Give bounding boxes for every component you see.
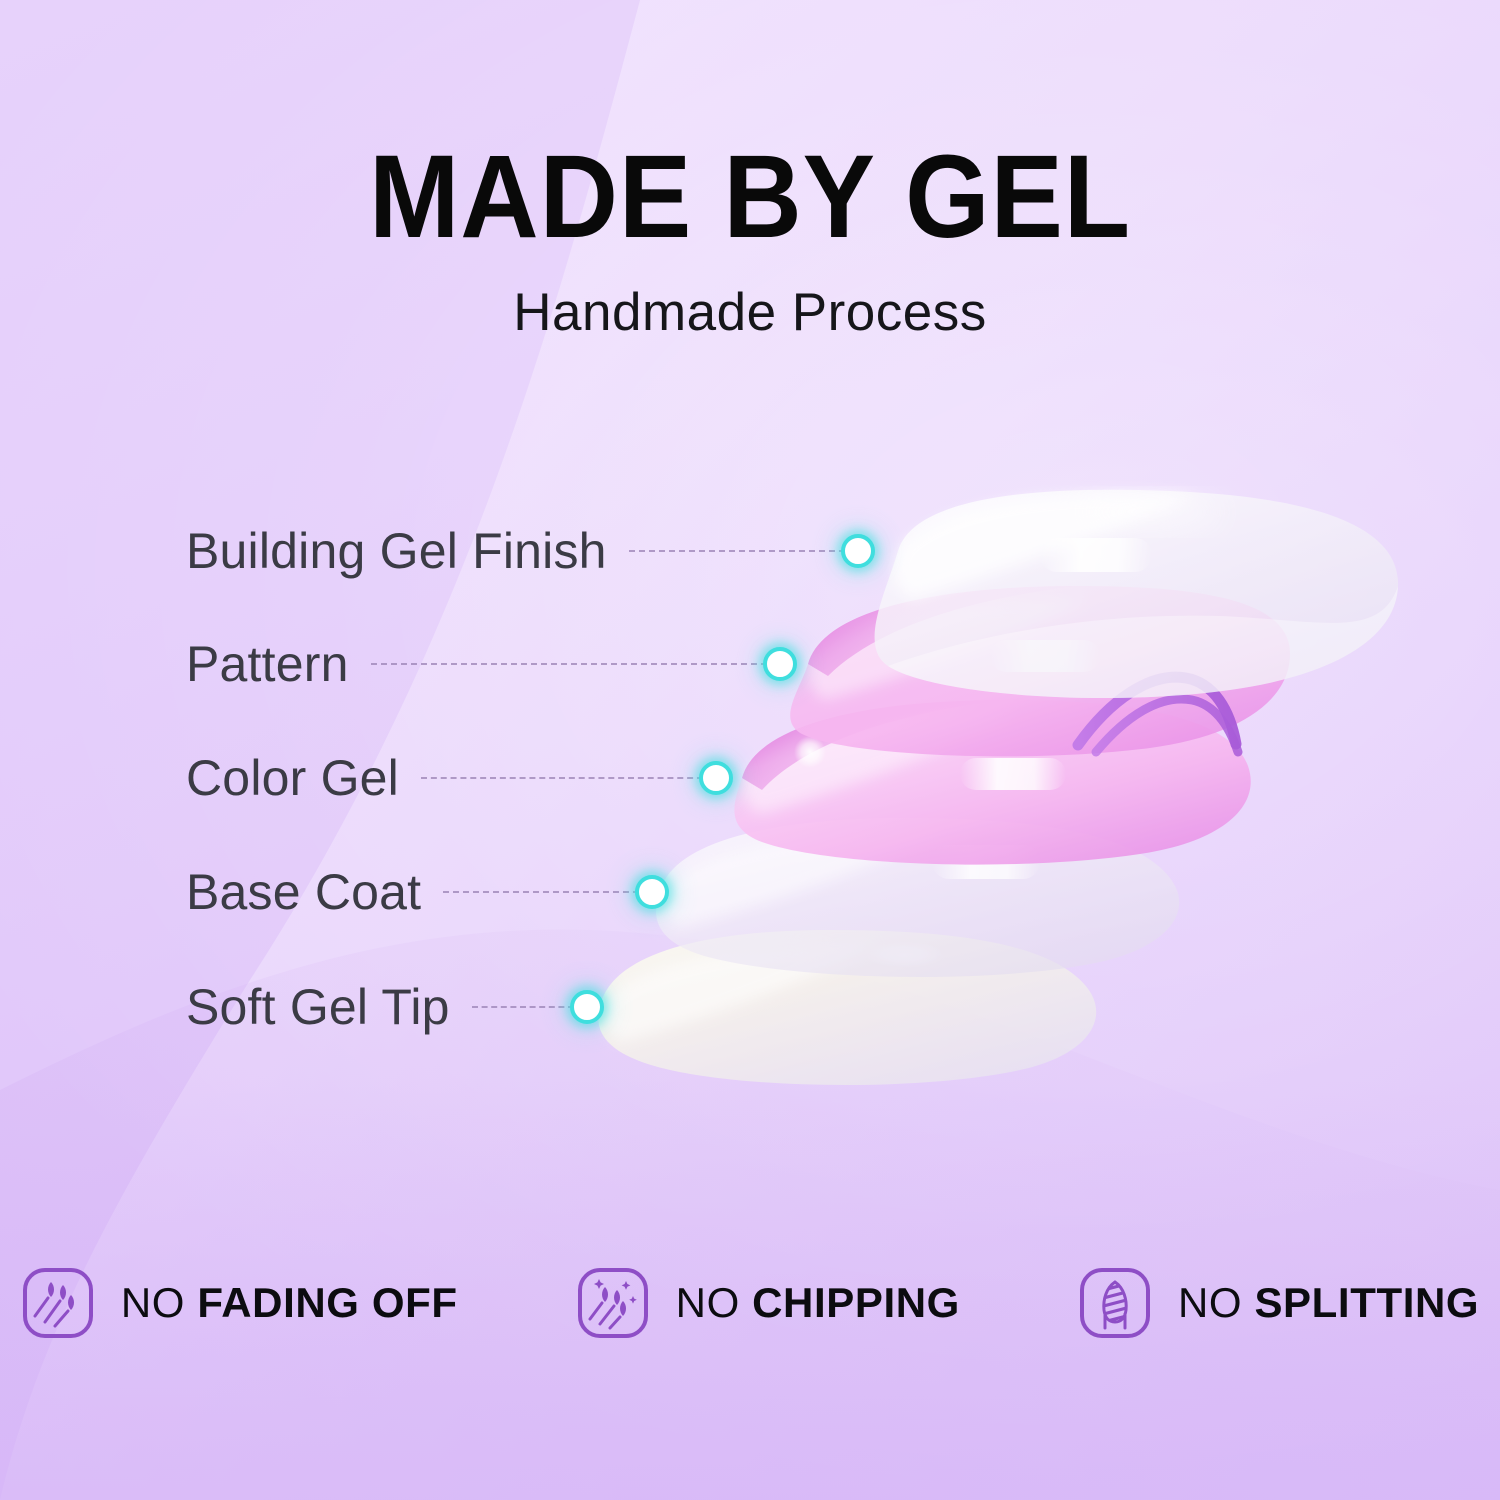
layer-label-text: Pattern [186, 635, 349, 693]
layer-label-text: Color Gel [186, 749, 399, 807]
feature-label: NO SPLITTING [1178, 1279, 1479, 1327]
feature-no-splitting[interactable]: NO SPLITTING [1078, 1266, 1479, 1340]
feature-prefix: NO [676, 1279, 752, 1326]
layer-marker-dot[interactable] [763, 647, 797, 681]
feature-no-fading-off[interactable]: NO FADING OFF [21, 1266, 458, 1340]
feature-prefix: NO [1178, 1279, 1254, 1326]
infographic-canvas: MADE BY GEL Handmade Process [0, 0, 1500, 1500]
layer-marker-dot[interactable] [699, 761, 733, 795]
leader-line [472, 1006, 574, 1008]
feature-emphasis: SPLITTING [1254, 1279, 1479, 1326]
layer-label-text: Soft Gel Tip [186, 978, 450, 1036]
layer-marker-dot[interactable] [841, 534, 875, 568]
nail-brush-strokes-icon [21, 1266, 95, 1340]
leader-line [629, 550, 845, 552]
feature-emphasis: CHIPPING [752, 1279, 960, 1326]
feature-emphasis: FADING OFF [197, 1279, 457, 1326]
feature-prefix: NO [121, 1279, 197, 1326]
layer-label-text: Building Gel Finish [186, 522, 607, 580]
layer-marker-dot[interactable] [635, 875, 669, 909]
leader-line [443, 891, 639, 893]
feature-badge-row: NO FADING OFF [0, 1266, 1500, 1340]
layer-label-text: Base Coat [186, 863, 421, 921]
layer-marker-dot[interactable] [570, 990, 604, 1024]
feature-no-chipping[interactable]: NO CHIPPING [576, 1266, 960, 1340]
nail-sparkle-strokes-icon [576, 1266, 650, 1340]
feature-label: NO FADING OFF [121, 1279, 458, 1327]
layer-label-color-gel[interactable]: Color Gel [186, 750, 733, 806]
layer-label-pattern[interactable]: Pattern [186, 636, 797, 692]
layer-label-building-gel-finish[interactable]: Building Gel Finish [186, 523, 875, 579]
layer-label-soft-gel-tip[interactable]: Soft Gel Tip [186, 979, 604, 1035]
leader-line [371, 663, 767, 665]
feature-label: NO CHIPPING [676, 1279, 960, 1327]
leader-line [421, 777, 703, 779]
striped-nail-icon [1078, 1266, 1152, 1340]
layer-label-base-coat[interactable]: Base Coat [186, 864, 669, 920]
